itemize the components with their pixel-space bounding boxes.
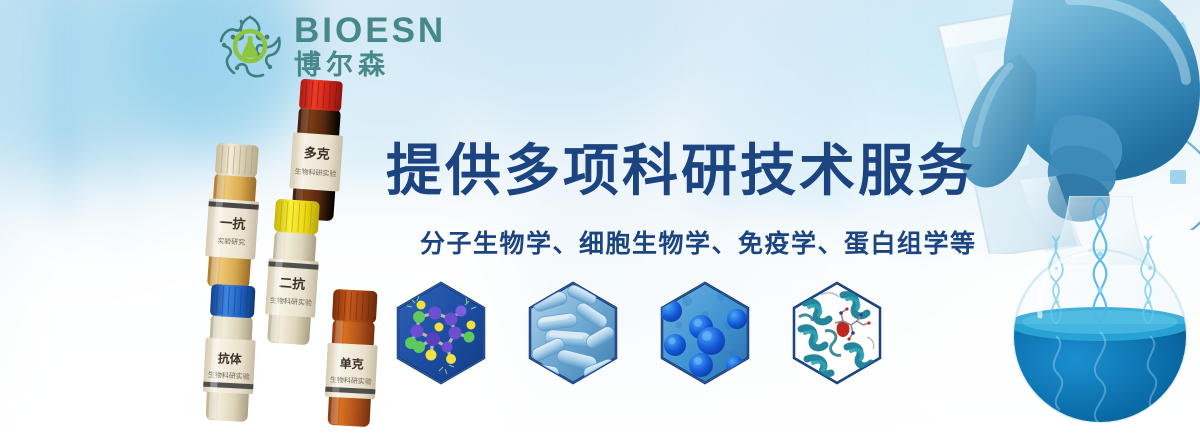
vial-label-text: 单克	[339, 355, 364, 371]
hero-banner: BIOESN 博尔森	[0, 0, 1200, 440]
vial-label-text: 一抗	[219, 215, 246, 233]
page-subtitle: 分子生物学、细胞生物学、免疫学、蛋白组学等	[420, 224, 960, 260]
vial-label-text: 多克	[303, 145, 330, 163]
service-hexagon-row	[395, 281, 883, 385]
round-flask-blue-liquid	[1000, 196, 1200, 440]
vial-label-text: 二抗	[279, 275, 306, 293]
dna-swirl-flask-emblem-icon	[215, 11, 285, 81]
vial-label-text: 抗体	[217, 350, 243, 366]
vial-secondary-antibody: 二抗 生物科研实验	[258, 196, 328, 348]
background-blob	[0, 0, 170, 170]
bioesn-logo[interactable]: BIOESN 博尔森	[215, 8, 415, 84]
vial-monoclonal: 单克 生物科研实验	[318, 287, 385, 430]
background-stripe	[55, 0, 73, 230]
hex-protein-ribbon[interactable]	[791, 281, 883, 385]
hex-cells-spheres[interactable]	[659, 281, 751, 385]
logo-wordmark-en: BIOESN	[294, 13, 446, 48]
hex-bacteria-rods[interactable]	[527, 281, 619, 385]
logo-wordmark-cn: 博尔森	[294, 52, 446, 79]
hex-molecule-structure[interactable]	[395, 281, 487, 385]
vial-primary-antibody: 一抗 实验研究	[198, 138, 268, 292]
background-blob	[430, 0, 690, 130]
page-title: 提供多项科研技术服务	[386, 126, 946, 207]
vial-antibody-blue: 抗体 生物科研实验	[196, 282, 263, 425]
background-stripe	[120, 0, 130, 250]
